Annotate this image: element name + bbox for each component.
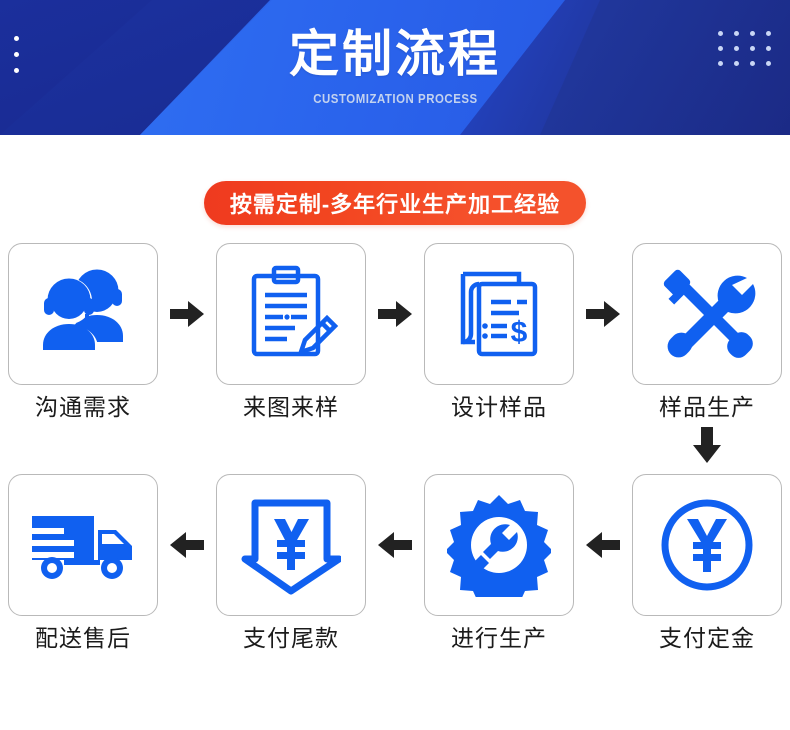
flow-row-2: 配送售后 支付尾款 — [0, 474, 790, 653]
arrow-left-icon — [170, 531, 204, 559]
yen-down-arrow-icon — [241, 495, 341, 595]
flow-arrow-3 — [574, 243, 632, 385]
page-title: 定制流程 — [289, 29, 501, 79]
flow-card[interactable] — [632, 474, 782, 616]
yen-circle-icon — [657, 495, 757, 595]
flow-arrow-1 — [158, 243, 216, 385]
flow-card[interactable] — [632, 243, 782, 385]
header-text-block: 定制流程 CUSTOMIZATION PROCESS — [0, 0, 790, 135]
flow-row-1: 沟通需求 — [0, 243, 790, 422]
flow-step-sample-drawing[interactable]: 来图来样 — [216, 243, 366, 422]
arrow-right-icon — [378, 300, 412, 328]
flow-step-label: 设计样品 — [451, 393, 547, 422]
flow-step-label: 来图来样 — [243, 393, 339, 422]
svg-text:$: $ — [511, 316, 528, 349]
arrow-down-holder — [632, 427, 782, 463]
flow-step-label: 支付尾款 — [243, 624, 339, 653]
flow-arrow-5 — [366, 474, 424, 616]
flow-row-connector — [0, 422, 790, 468]
arrow-left-icon — [586, 531, 620, 559]
flow-card[interactable] — [216, 243, 366, 385]
delivery-truck-icon — [28, 502, 138, 588]
flow-arrow-4 — [158, 474, 216, 616]
gear-wrench-icon — [447, 493, 551, 597]
arrow-right-icon — [170, 300, 204, 328]
flow-step-label: 沟通需求 — [35, 393, 131, 422]
flow-step-label: 进行生产 — [451, 624, 547, 653]
flow-step-label: 样品生产 — [659, 393, 755, 422]
flow-step-delivery-aftersales[interactable]: 配送售后 — [8, 474, 158, 653]
flow-step-pay-deposit[interactable]: 支付定金 — [632, 474, 782, 653]
documents-invoice-icon: $ — [449, 264, 549, 364]
flow-card[interactable] — [424, 474, 574, 616]
promo-banner: 按需定制-多年行业生产加工经验 — [204, 181, 586, 225]
flow-card[interactable] — [216, 474, 366, 616]
page-header: 定制流程 CUSTOMIZATION PROCESS — [0, 0, 790, 135]
arrow-left-icon — [378, 531, 412, 559]
flow-card[interactable] — [8, 243, 158, 385]
flow-step-sample-production[interactable]: 样品生产 — [632, 243, 782, 422]
flow-step-communicate[interactable]: 沟通需求 — [8, 243, 158, 422]
flow-step-pay-balance[interactable]: 支付尾款 — [216, 474, 366, 653]
flow-arrow-2 — [366, 243, 424, 385]
flow-step-label: 支付定金 — [659, 624, 755, 653]
banner-row: 按需定制-多年行业生产加工经验 — [0, 181, 790, 225]
arrow-right-icon — [586, 300, 620, 328]
flow-step-label: 配送售后 — [35, 624, 131, 653]
wrench-screwdriver-icon — [655, 262, 759, 366]
flow-step-design-sample[interactable]: $ 设计样品 — [424, 243, 574, 422]
arrow-down-icon — [692, 427, 722, 463]
flow-arrow-6 — [574, 474, 632, 616]
process-flow: 沟通需求 — [0, 243, 790, 653]
page-subtitle: CUSTOMIZATION PROCESS — [313, 91, 477, 106]
headset-support-agents-icon — [31, 267, 135, 361]
flow-step-production[interactable]: 进行生产 — [424, 474, 574, 653]
clipboard-pencil-icon — [243, 264, 339, 364]
flow-card[interactable]: $ — [424, 243, 574, 385]
flow-card[interactable] — [8, 474, 158, 616]
